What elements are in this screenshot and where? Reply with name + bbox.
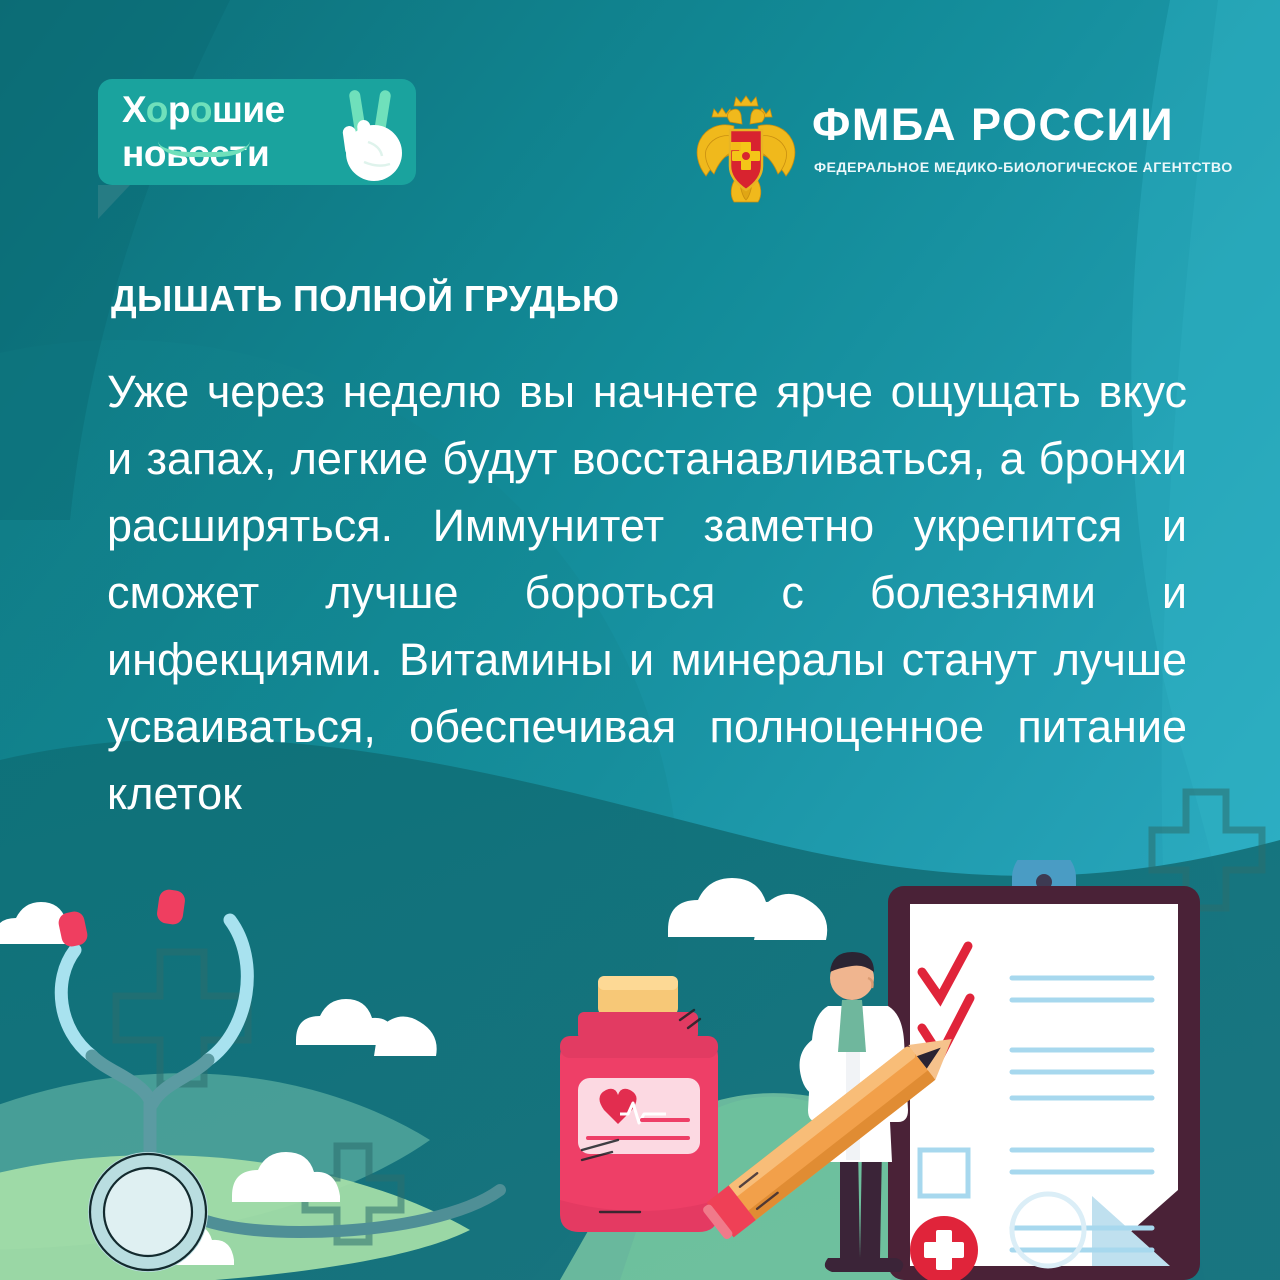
- brand-badge-tail: [98, 185, 130, 219]
- brand-wordmark: Хорошие новости: [122, 88, 332, 176]
- fmba-subtitle: ФЕДЕРАЛЬНОЕ МЕДИКО-БИОЛОГИЧЕСКОЕ АГЕНТСТ…: [814, 160, 1233, 176]
- fmba-logo[interactable]: ФМБА РОССИИ ФЕДЕРАЛЬНОЕ МЕДИКО-БИОЛОГИЧЕ…: [690, 92, 1190, 204]
- medical-illustration: [0, 860, 1280, 1280]
- page-title: ДЫШАТЬ ПОЛНОЙ ГРУДЬЮ: [111, 278, 619, 320]
- peace-hand-icon: [330, 86, 414, 186]
- article-body: Уже через неделю вы начнете ярче ощущать…: [107, 358, 1187, 894]
- header: Хорошие новости: [0, 0, 1280, 240]
- russian-eagle-emblem: [690, 92, 802, 204]
- pill-bottle-icon: [560, 976, 718, 1232]
- stethoscope-icon: [57, 888, 500, 1272]
- brand-line-1: Хорошие: [122, 88, 332, 132]
- fmba-title: ФМБА РОССИИ: [812, 99, 1174, 151]
